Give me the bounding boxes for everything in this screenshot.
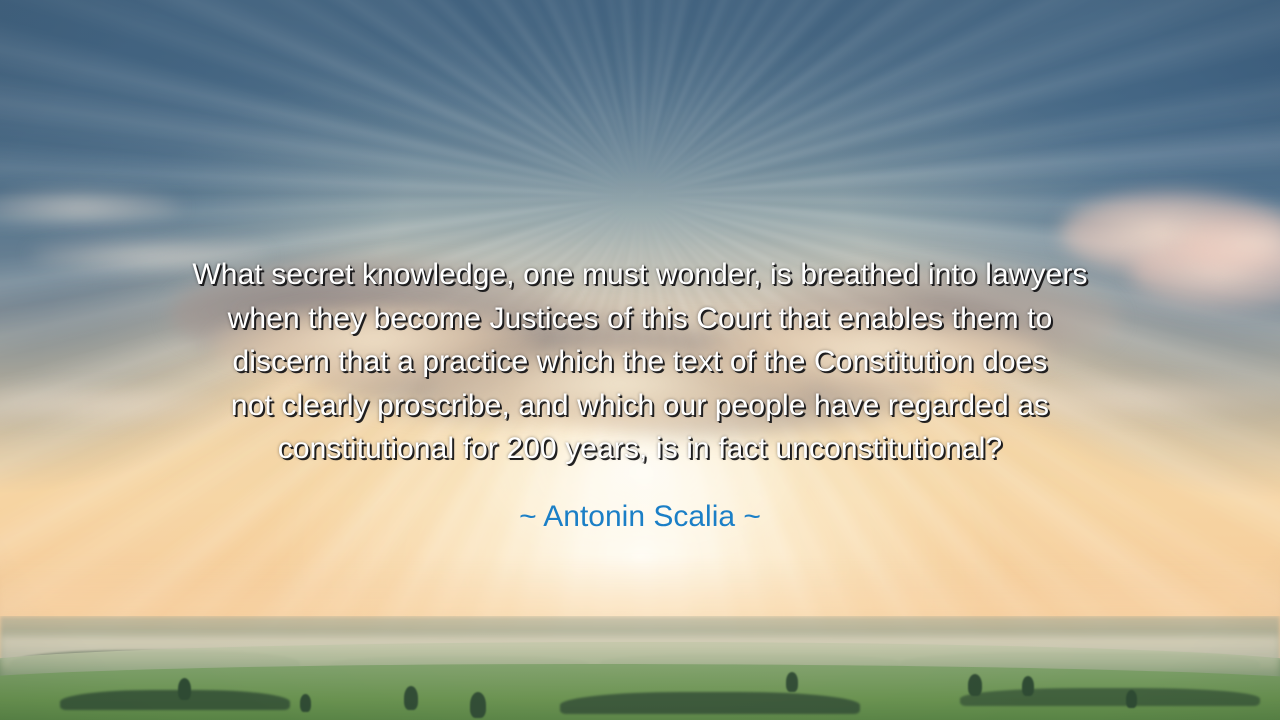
tree [968, 674, 982, 696]
treeline [960, 688, 1260, 706]
tree [786, 672, 798, 692]
tree [1022, 676, 1034, 696]
quote-attribution: ~ Antonin Scalia ~ [0, 498, 1280, 536]
tree [178, 678, 191, 700]
quote-line: when they become Justices of this Court … [60, 297, 1220, 341]
tree [470, 692, 486, 718]
quote-line: discern that a practice which the text o… [60, 340, 1220, 384]
treeline [560, 692, 860, 714]
tree [1126, 690, 1137, 708]
quote-line: What secret knowledge, one must wonder, … [60, 253, 1220, 297]
tree [404, 686, 418, 710]
landscape [0, 616, 1280, 720]
quote-line: constitutional for 200 years, is in fact… [60, 427, 1220, 471]
tree [300, 694, 311, 712]
treeline [60, 690, 290, 710]
quote-line: not clearly proscribe, and which our peo… [60, 384, 1220, 428]
quote-text-block: What secret knowledge, one must wonder, … [0, 253, 1280, 471]
quote-image-canvas: What secret knowledge, one must wonder, … [0, 0, 1280, 720]
